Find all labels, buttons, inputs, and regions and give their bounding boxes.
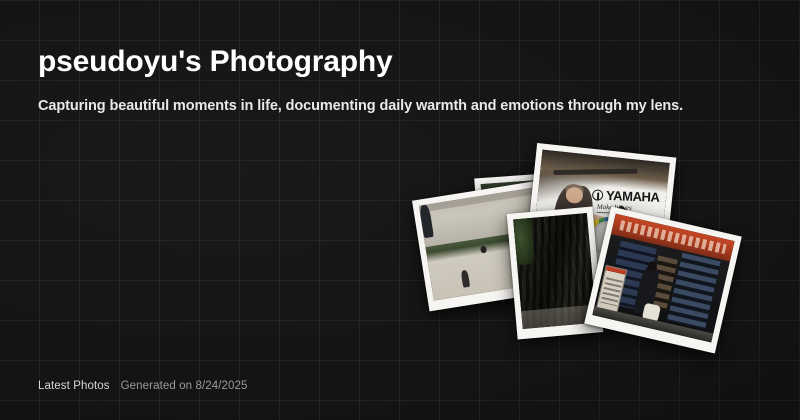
- photography-hero-card: pseudoyu's Photography Capturing beautif…: [0, 0, 800, 420]
- yamaha-wordmark: YAMAHA: [606, 188, 660, 205]
- photo-shop[interactable]: [584, 206, 742, 353]
- page-subtitle: Capturing beautiful moments in life, doc…: [38, 98, 683, 114]
- tuning-fork-icon: [592, 189, 603, 200]
- latest-photos-stack[interactable]: YAMAHA Make Waves AND MUSIC IS FOR EVERY…: [412, 138, 772, 374]
- footer-generated-on: Generated on 8/24/2025: [121, 380, 248, 392]
- footer-label: Latest Photos: [38, 380, 110, 392]
- footer-bar: Latest Photos Generated on 8/24/2025: [38, 380, 248, 392]
- yamaha-logo: YAMAHA: [592, 187, 660, 204]
- photo-bark-image: [513, 213, 596, 329]
- header-text-block: pseudoyu's Photography Capturing beautif…: [38, 44, 683, 114]
- page-title: pseudoyu's Photography: [38, 44, 683, 80]
- photo-shop-image: [592, 214, 734, 343]
